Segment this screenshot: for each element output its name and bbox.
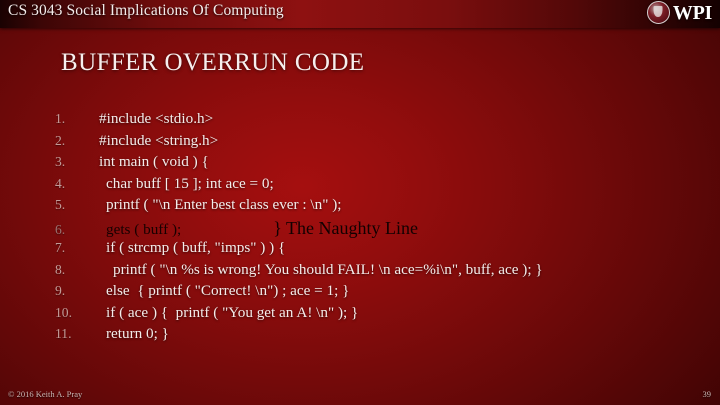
code-line-text: #include <stdio.h>	[99, 110, 213, 128]
code-line-text: return 0; }	[99, 325, 169, 343]
code-line-text: else { printf ( "Correct! \n") ; ace = 1…	[99, 282, 349, 300]
wpi-logo: WPI	[647, 1, 712, 24]
code-line-text: if ( ace ) { printf ( "You get an A! \n"…	[99, 304, 358, 322]
code-line-number: 7.	[55, 240, 99, 256]
wpi-seal-icon	[647, 1, 670, 24]
code-line-number: 6.	[55, 222, 99, 238]
header-bar: CS 3043 Social Implications Of Computing…	[0, 0, 720, 28]
code-line-text: gets ( buff );	[99, 221, 181, 239]
code-line: 7. if ( strcmp ( buff, "imps" ) ) {	[55, 239, 695, 261]
code-line-text: printf ( "\n Enter best class ever : \n"…	[99, 196, 342, 214]
code-line-number: 8.	[55, 262, 99, 278]
code-line: 3. int main ( void ) {	[55, 153, 695, 175]
code-line-number: 9.	[55, 283, 99, 299]
code-line-number: 10.	[55, 305, 99, 321]
code-line-text: if ( strcmp ( buff, "imps" ) ) {	[99, 239, 285, 257]
code-line-number: 4.	[55, 176, 99, 192]
slide: CS 3043 Social Implications Of Computing…	[0, 0, 720, 405]
code-line: 5. printf ( "\n Enter best class ever : …	[55, 196, 695, 218]
code-line-number: 1.	[55, 111, 99, 127]
code-line-text: int main ( void ) {	[99, 153, 209, 171]
naughty-line-annotation: } The Naughty Line	[181, 218, 418, 239]
code-line: 11. return 0; }	[55, 325, 695, 347]
code-line-naughty: 6. gets ( buff ); } The Naughty Line	[55, 218, 695, 240]
page-number: 39	[703, 389, 712, 399]
code-line-text: char buff [ 15 ]; int ace = 0;	[99, 175, 274, 193]
code-line-text: #include <string.h>	[99, 132, 218, 150]
page-title: BUFFER OVERRUN CODE	[61, 49, 364, 77]
wpi-logo-text: WPI	[673, 3, 712, 23]
course-title: CS 3043 Social Implications Of Computing	[8, 2, 284, 20]
code-line-number: 5.	[55, 197, 99, 213]
code-line: 4. char buff [ 15 ]; int ace = 0;	[55, 175, 695, 197]
code-line-number: 2.	[55, 133, 99, 149]
code-line-number: 3.	[55, 154, 99, 170]
code-line: 10. if ( ace ) { printf ( "You get an A!…	[55, 304, 695, 326]
code-line: 9. else { printf ( "Correct! \n") ; ace …	[55, 282, 695, 304]
code-listing: 1. #include <stdio.h> 2. #include <strin…	[55, 110, 695, 347]
code-line: 8. printf ( "\n %s is wrong! You should …	[55, 261, 695, 283]
code-line: 2. #include <string.h>	[55, 132, 695, 154]
code-line-number: 11.	[55, 326, 99, 342]
code-line: 1. #include <stdio.h>	[55, 110, 695, 132]
code-line-text: printf ( "\n %s is wrong! You should FAI…	[99, 261, 543, 279]
copyright-notice: © 2016 Keith A. Pray	[8, 389, 82, 399]
